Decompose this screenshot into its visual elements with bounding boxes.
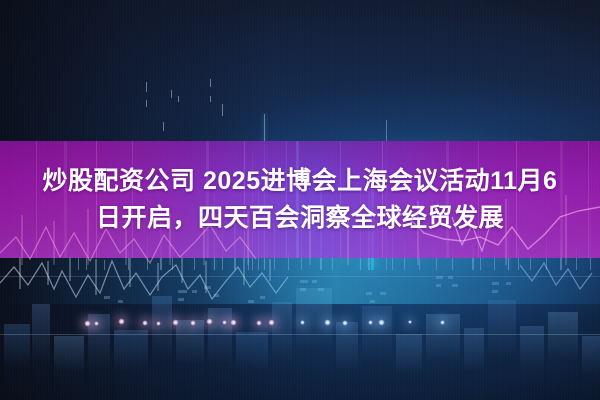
banner-image: 炒股配资公司 2025进博会上海会议活动11月6 日开启，四天百会洞察全球经贸发… xyxy=(0,0,600,400)
headline-line-1: 炒股配资公司 2025进博会上海会议活动11月6 xyxy=(43,163,558,200)
headline-line-2: 日开启，四天百会洞察全球经贸发展 xyxy=(96,200,504,237)
headline-text-block: 炒股配资公司 2025进博会上海会议活动11月6 日开启，四天百会洞察全球经贸发… xyxy=(0,141,600,258)
